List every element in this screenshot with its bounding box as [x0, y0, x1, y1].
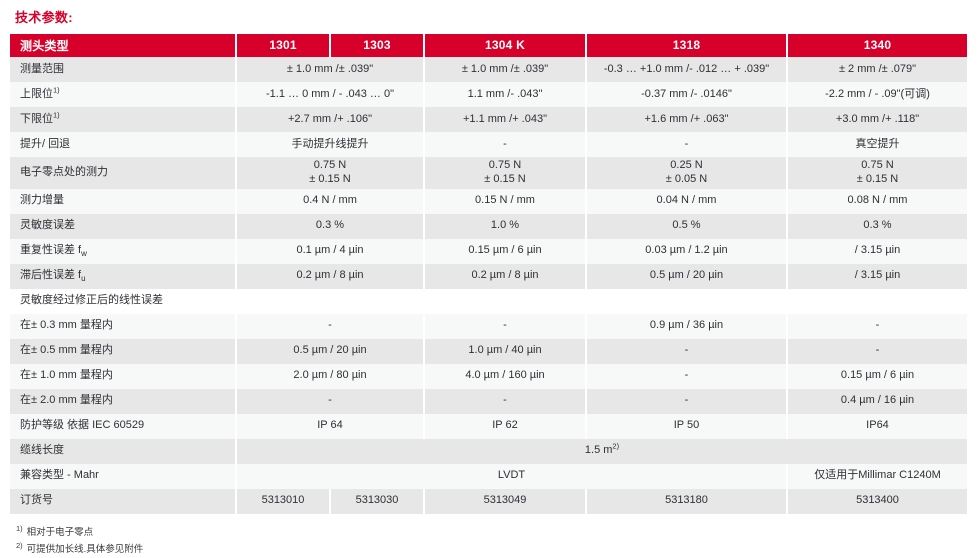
- table-cell: 0.5 µm / 20 µin: [586, 264, 787, 289]
- row-label: 灵敏度误差: [10, 214, 236, 239]
- table-cell: -: [424, 314, 586, 339]
- table-row: 下限位1)+2.7 mm /+ .106"+1.1 mm /+ .043"+1.…: [10, 107, 967, 132]
- table-cell: 1.5 m2): [236, 439, 967, 464]
- table-cell: 手动提升线提升: [236, 132, 424, 157]
- table-cell: -: [586, 339, 787, 364]
- table-cell: 1.1 mm /- .043": [424, 82, 586, 107]
- table-header-row: 测头类型 1301 1303 1304 K 1318 1340: [10, 34, 967, 57]
- table-row: 在± 2.0 mm 量程内---0.4 µm / 16 µin: [10, 389, 967, 414]
- table-cell: +1.6 mm /+ .063": [586, 107, 787, 132]
- table-cell: -: [424, 389, 586, 414]
- table-cell: -0.37 mm /- .0146": [586, 82, 787, 107]
- table-cell: ± 1.0 mm /± .039": [236, 57, 424, 82]
- table-cell: 5313400: [787, 489, 967, 514]
- table-cell: 0.9 µm / 36 µin: [586, 314, 787, 339]
- table-cell: 0.4 µm / 16 µin: [787, 389, 967, 414]
- table-cell: -: [586, 389, 787, 414]
- footnote-marker: 2): [16, 541, 23, 550]
- table-cell: 0.15 µm / 6 µin: [424, 239, 586, 264]
- table-cell: 0.25 N ± 0.05 N: [586, 157, 787, 189]
- table-row: 缆线长度1.5 m2): [10, 439, 967, 464]
- table-row: 测量范围± 1.0 mm /± .039"± 1.0 mm /± .039"-0…: [10, 57, 967, 82]
- table-cell: -0.3 … +1.0 mm /- .012 … + .039": [586, 57, 787, 82]
- table-row: 测力增量0.4 N / mm0.15 N / mm0.04 N / mm0.08…: [10, 189, 967, 214]
- table-cell: 5313180: [586, 489, 787, 514]
- table-cell: 仅适用于Millimar C1240M: [787, 464, 967, 489]
- row-label: 电子零点处的测力: [10, 157, 236, 189]
- row-label: 缆线长度: [10, 439, 236, 464]
- row-label: 测量范围: [10, 57, 236, 82]
- technical-specifications-table: 测头类型 1301 1303 1304 K 1318 1340 测量范围± 1.…: [10, 34, 967, 514]
- column-header-1318: 1318: [586, 34, 787, 57]
- table-cell: IP 64: [236, 414, 424, 439]
- table-cell: 0.5 µm / 20 µin: [236, 339, 424, 364]
- table-row: 上限位1)-1.1 … 0 mm / - .043 … 0"1.1 mm /- …: [10, 82, 967, 107]
- table-cell: IP64: [787, 414, 967, 439]
- table-row: 提升/ 回退手动提升线提升--真空提升: [10, 132, 967, 157]
- table-cell: -: [586, 132, 787, 157]
- table-cell: -: [236, 314, 424, 339]
- column-header-1340: 1340: [787, 34, 967, 57]
- table-cell: 0.15 N / mm: [424, 189, 586, 214]
- row-label: 在± 1.0 mm 量程内: [10, 364, 236, 389]
- table-cell: 0.3 %: [236, 214, 424, 239]
- footnote-text: 相对于电子零点: [27, 527, 94, 538]
- table-row: 在± 1.0 mm 量程内2.0 µm / 80 µin4.0 µm / 160…: [10, 364, 967, 389]
- table-cell: 5313030: [330, 489, 424, 514]
- row-label: 灵敏度经过修正后的线性误差: [10, 289, 236, 314]
- footnotes: 1)相对于电子零点2)可提供加长线.具体参见附件: [10, 523, 967, 558]
- table-cell: 0.75 N ± 0.15 N: [236, 157, 424, 189]
- row-label: 在± 0.5 mm 量程内: [10, 339, 236, 364]
- row-label: 在± 0.3 mm 量程内: [10, 314, 236, 339]
- table-row: 兼容类型 - MahrLVDT仅适用于Millimar C1240M: [10, 464, 967, 489]
- column-header-1303: 1303: [330, 34, 424, 57]
- table-cell: 0.1 µm / 4 µin: [236, 239, 424, 264]
- column-header-1304k: 1304 K: [424, 34, 586, 57]
- table-cell: -: [586, 364, 787, 389]
- table-cell: -: [787, 314, 967, 339]
- column-header-probe-type: 测头类型: [10, 34, 236, 57]
- footnote-item: 1)相对于电子零点: [16, 523, 967, 541]
- row-label: 下限位1): [10, 107, 236, 132]
- table-header: 测头类型 1301 1303 1304 K 1318 1340: [10, 34, 967, 57]
- table-cell: IP 50: [586, 414, 787, 439]
- table-cell: / 3.15 µin: [787, 264, 967, 289]
- row-label: 在± 2.0 mm 量程内: [10, 389, 236, 414]
- table-body: 测量范围± 1.0 mm /± .039"± 1.0 mm /± .039"-0…: [10, 57, 967, 514]
- table-cell: 真空提升: [787, 132, 967, 157]
- row-label: 测力增量: [10, 189, 236, 214]
- table-cell: +2.7 mm /+ .106": [236, 107, 424, 132]
- table-cell: 1.0 %: [424, 214, 586, 239]
- table-cell: +1.1 mm /+ .043": [424, 107, 586, 132]
- table-cell: ± 1.0 mm /± .039": [424, 57, 586, 82]
- row-label: 兼容类型 - Mahr: [10, 464, 236, 489]
- section-filler: [236, 289, 967, 314]
- table-cell: 0.2 µm / 8 µin: [236, 264, 424, 289]
- table-cell: 2.0 µm / 80 µin: [236, 364, 424, 389]
- spec-sheet-page: 技术参数: 测头类型 1301 1303 1304 K 1318 1340 测量…: [0, 0, 977, 500]
- row-label: 防护等级 依据 IEC 60529: [10, 414, 236, 439]
- row-label: 订货号: [10, 489, 236, 514]
- row-label: 重复性误差 fw: [10, 239, 236, 264]
- table-cell: -: [236, 389, 424, 414]
- table-cell: 0.75 N ± 0.15 N: [787, 157, 967, 189]
- row-label: 上限位1): [10, 82, 236, 107]
- table-cell: 0.04 N / mm: [586, 189, 787, 214]
- table-cell: -2.2 mm / - .09"(可调): [787, 82, 967, 107]
- table-cell: 0.5 %: [586, 214, 787, 239]
- table-row: 在± 0.5 mm 量程内0.5 µm / 20 µin1.0 µm / 40 …: [10, 339, 967, 364]
- table-cell: 5313010: [236, 489, 330, 514]
- table-cell: +3.0 mm /+ .118": [787, 107, 967, 132]
- row-label: 滞后性误差 fu: [10, 264, 236, 289]
- table-cell: ± 2 mm /± .079": [787, 57, 967, 82]
- table-cell: 0.2 µm / 8 µin: [424, 264, 586, 289]
- table-cell: IP 62: [424, 414, 586, 439]
- table-cell: 0.08 N / mm: [787, 189, 967, 214]
- table-cell: 5313049: [424, 489, 586, 514]
- table-row: 灵敏度经过修正后的线性误差: [10, 289, 967, 314]
- footnote-text: 可提供加长线.具体参见附件: [27, 545, 144, 556]
- table-cell: 0.15 µm / 6 µin: [787, 364, 967, 389]
- table-row: 订货号53130105313030531304953131805313400: [10, 489, 967, 514]
- row-label: 提升/ 回退: [10, 132, 236, 157]
- table-cell: 0.75 N ± 0.15 N: [424, 157, 586, 189]
- table-cell: 1.0 µm / 40 µin: [424, 339, 586, 364]
- table-cell: -1.1 … 0 mm / - .043 … 0": [236, 82, 424, 107]
- table-row: 防护等级 依据 IEC 60529IP 64IP 62IP 50IP64: [10, 414, 967, 439]
- table-row: 重复性误差 fw0.1 µm / 4 µin0.15 µm / 6 µin0.0…: [10, 239, 967, 264]
- table-row: 电子零点处的测力0.75 N ± 0.15 N0.75 N ± 0.15 N0.…: [10, 157, 967, 189]
- table-cell: / 3.15 µin: [787, 239, 967, 264]
- column-header-1301: 1301: [236, 34, 330, 57]
- table-row: 灵敏度误差0.3 %1.0 %0.5 %0.3 %: [10, 214, 967, 239]
- footnote-marker: 1): [16, 524, 23, 533]
- footnote-item: 2)可提供加长线.具体参见附件: [16, 540, 967, 558]
- table-cell: -: [424, 132, 586, 157]
- table-cell: -: [787, 339, 967, 364]
- table-cell: LVDT: [236, 464, 787, 489]
- table-row: 在± 0.3 mm 量程内--0.9 µm / 36 µin-: [10, 314, 967, 339]
- page-title: 技术参数:: [10, 0, 967, 34]
- table-cell: 0.4 N / mm: [236, 189, 424, 214]
- table-cell: 0.3 %: [787, 214, 967, 239]
- table-cell: 4.0 µm / 160 µin: [424, 364, 586, 389]
- table-row: 滞后性误差 fu0.2 µm / 8 µin0.2 µm / 8 µin0.5 …: [10, 264, 967, 289]
- table-cell: 0.03 µm / 1.2 µin: [586, 239, 787, 264]
